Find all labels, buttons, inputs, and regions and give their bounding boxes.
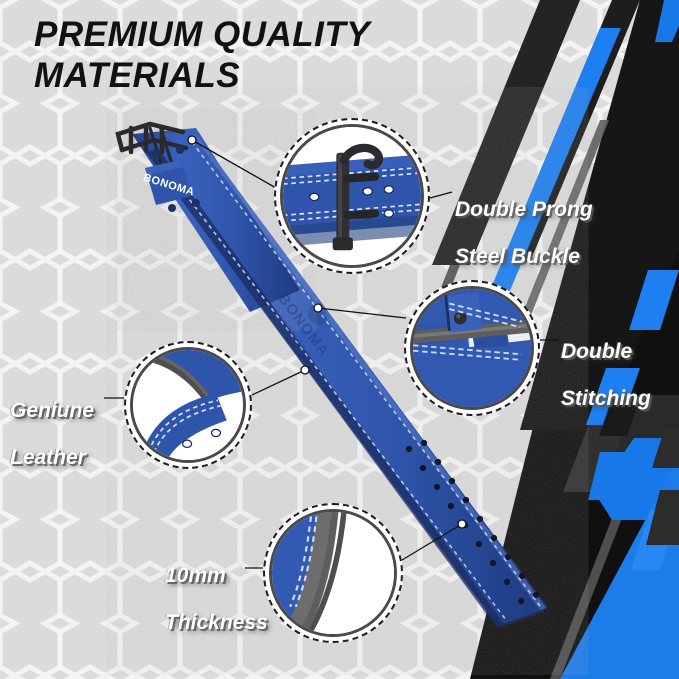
feature-label-geniune-leather: Geniune Leather [10,375,94,469]
callout-thickness-content [269,509,397,637]
feature-label-line-2: Stitching [561,387,651,410]
feature-label-line-1: Double Prong [455,198,593,221]
feature-label-10mm-thickness: 10mm Thickness [165,540,268,634]
callout-buckle-content [280,124,424,268]
feature-label-line-1: Geniune [10,399,94,422]
feature-label-line-2: Steel Buckle [455,245,580,268]
feature-label-double-stitching: Double Stitching [561,316,651,410]
feature-label-line-2: Thickness [165,611,268,634]
feature-label-line-2: Leather [10,446,86,469]
feature-label-line-1: 10mm [165,564,226,587]
callout-leather-content [130,347,246,463]
page-title: PREMIUM QUALITY MATERIALS [34,14,464,97]
callout-stitching-content [410,286,534,410]
feature-label-double-prong-steel-buckle: Double Prong Steel Buckle [455,174,593,268]
infographic-canvas: BONOMA STRENGTH BONOMA [0,0,679,679]
callout-circle-leather [124,341,252,469]
callout-circle-stitching [404,280,540,416]
callout-circle-thickness [263,503,403,643]
callout-circle-buckle [274,118,430,274]
feature-label-line-1: Double [561,340,632,363]
